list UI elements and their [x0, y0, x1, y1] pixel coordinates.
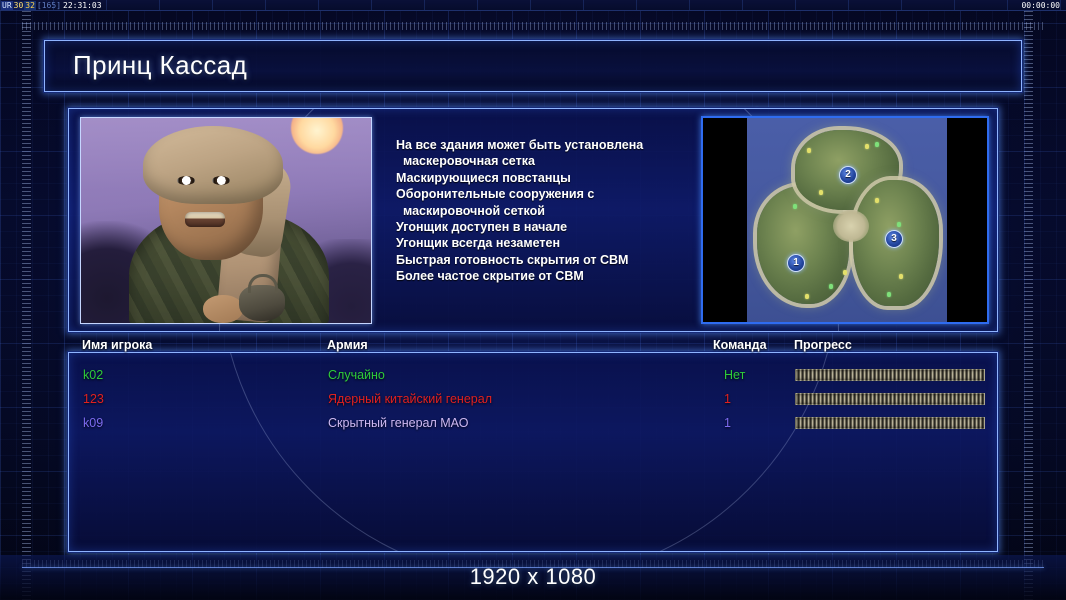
resolution-label: 1920 x 1080: [0, 564, 1066, 590]
minimap-resource: [875, 142, 879, 147]
minimap-preview: 1 2 3: [701, 116, 989, 324]
hud-left-readout: UR3032[165]22:31:03: [1, 0, 103, 11]
feature-line: Угонщик всегда незаметен: [396, 235, 696, 251]
page-title: Принц Кассад: [73, 50, 247, 81]
cell-army: Скрытный генерал МАО: [328, 411, 468, 435]
minimap-start-position-3: 3: [885, 230, 903, 248]
minimap-resource: [887, 292, 891, 297]
cell-player-name: k02: [83, 363, 103, 387]
column-header-team: Команда: [713, 338, 767, 352]
minimap-image: 1 2 3: [747, 118, 947, 322]
portrait-eye-right: [212, 176, 230, 185]
minimap-resource: [819, 190, 823, 195]
cell-army: Ядерный китайский генерал: [328, 387, 492, 411]
general-info-panel: На все здания может быть установленамаск…: [68, 108, 998, 332]
hud-timer: 00:00:00: [1021, 0, 1060, 11]
top-status-strip: [0, 0, 1066, 11]
ruler-right: [1024, 11, 1033, 600]
minimap-resource: [899, 274, 903, 279]
portrait-mouth: [185, 212, 225, 227]
hud-value-1: 30: [13, 1, 25, 10]
minimap-resource: [793, 204, 797, 209]
minimap-start-position-1: 1: [787, 254, 805, 272]
feature-line: На все здания может быть установлена: [396, 137, 696, 153]
loading-screen: UR3032[165]22:31:03 00:00:00 Принц Касса…: [0, 0, 1066, 600]
hud-bracket-value: [165]: [36, 1, 62, 10]
minimap-resource: [865, 144, 869, 149]
feature-line: Быстрая готовность скрытия от СВМ: [396, 252, 696, 268]
player-roster-panel: k02СлучайноНет123Ядерный китайский генер…: [68, 352, 998, 552]
minimap-start-position-2: 2: [839, 166, 857, 184]
table-row[interactable]: k02СлучайноНет: [69, 363, 997, 387]
cell-army: Случайно: [328, 363, 385, 387]
feature-line: маскеровочная сетка: [396, 153, 696, 169]
minimap-center-island: [833, 210, 869, 242]
feature-line: Оборонительные сооружения с: [396, 186, 696, 202]
minimap-resource: [875, 198, 879, 203]
cell-player-name: 123: [83, 387, 104, 411]
column-header-army: Армия: [327, 338, 368, 352]
cell-team: Нет: [724, 363, 745, 387]
portrait-eye-left: [177, 176, 195, 185]
table-row[interactable]: k09Скрытный генерал МАО1: [69, 411, 997, 435]
minimap-resource: [897, 222, 901, 227]
roster-column-headers: Имя игрока Армия Команда Прогресс: [68, 338, 998, 354]
portrait-kettle: [239, 285, 285, 321]
hud-value-2: 32: [24, 1, 36, 10]
general-features-list: На все здания может быть установленамаск…: [396, 137, 696, 285]
portrait-hand: [203, 295, 243, 323]
column-header-progress: Прогресс: [794, 338, 852, 352]
portrait-headwrap: [143, 126, 283, 204]
minimap-resource: [843, 270, 847, 275]
minimap-resource: [805, 294, 809, 299]
feature-line: маскировочной сеткой: [396, 203, 696, 219]
minimap-resource: [807, 148, 811, 153]
cell-team: 1: [724, 411, 731, 435]
progress-bar: [795, 417, 985, 429]
feature-line: Более частое скрытие от СВМ: [396, 268, 696, 284]
minimap-resource: [829, 284, 833, 289]
progress-bar: [795, 369, 985, 381]
feature-line: Угонщик доступен в начале: [396, 219, 696, 235]
table-row[interactable]: 123Ядерный китайский генерал1: [69, 387, 997, 411]
hud-label: UR: [1, 1, 13, 10]
feature-line: Маскирующиеся повстанцы: [396, 170, 696, 186]
ruler-top: [22, 22, 1044, 30]
top-strip-ticks: [0, 0, 1066, 10]
cell-player-name: k09: [83, 411, 103, 435]
ruler-left: [22, 11, 31, 600]
general-portrait: [80, 117, 372, 324]
progress-bar: [795, 393, 985, 405]
cell-team: 1: [724, 387, 731, 411]
header-panel: Принц Кассад: [44, 40, 1022, 92]
column-header-player-name: Имя игрока: [82, 338, 152, 352]
hud-clock: 22:31:03: [62, 1, 103, 10]
